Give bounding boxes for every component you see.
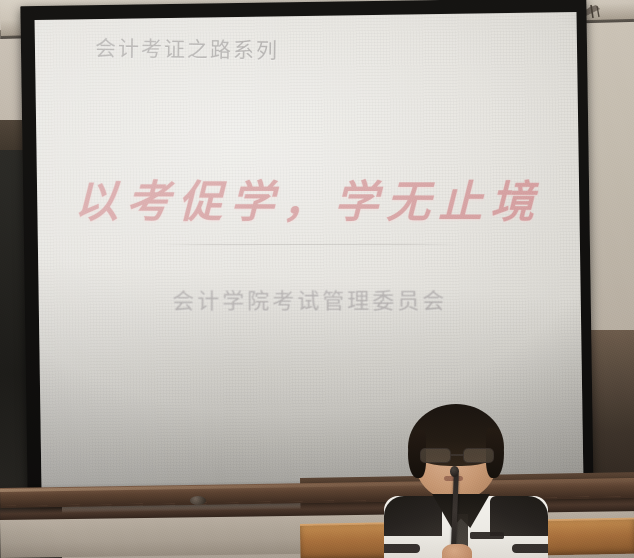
- slide-divider: [156, 244, 460, 245]
- presenter-pocket: [470, 532, 504, 539]
- slide-title-text: 以考促学，学无止境: [37, 166, 579, 230]
- photo-canvas: 会计考证之路系列 以考促学，学无止境 会计学院考试管理委员会: [0, 0, 634, 558]
- glasses-bridge: [451, 454, 463, 456]
- glasses-icon: [418, 448, 496, 464]
- presenter-sleeve-left: [384, 544, 420, 553]
- glasses-lens-right: [463, 448, 494, 463]
- presenter-shoulder-left: [384, 496, 442, 536]
- microphone-head: [450, 466, 459, 477]
- presenter-hand: [442, 544, 472, 558]
- slide-subtitle-text: 会计学院考试管理委员会: [39, 284, 581, 316]
- presenter-sleeve-right: [512, 544, 548, 553]
- presenter: [382, 404, 550, 558]
- glasses-lens-left: [420, 448, 451, 463]
- rail-fitting: [190, 496, 206, 505]
- presenter-shoulder-right: [490, 496, 548, 536]
- slide-header-text: 会计考证之路系列: [95, 33, 279, 65]
